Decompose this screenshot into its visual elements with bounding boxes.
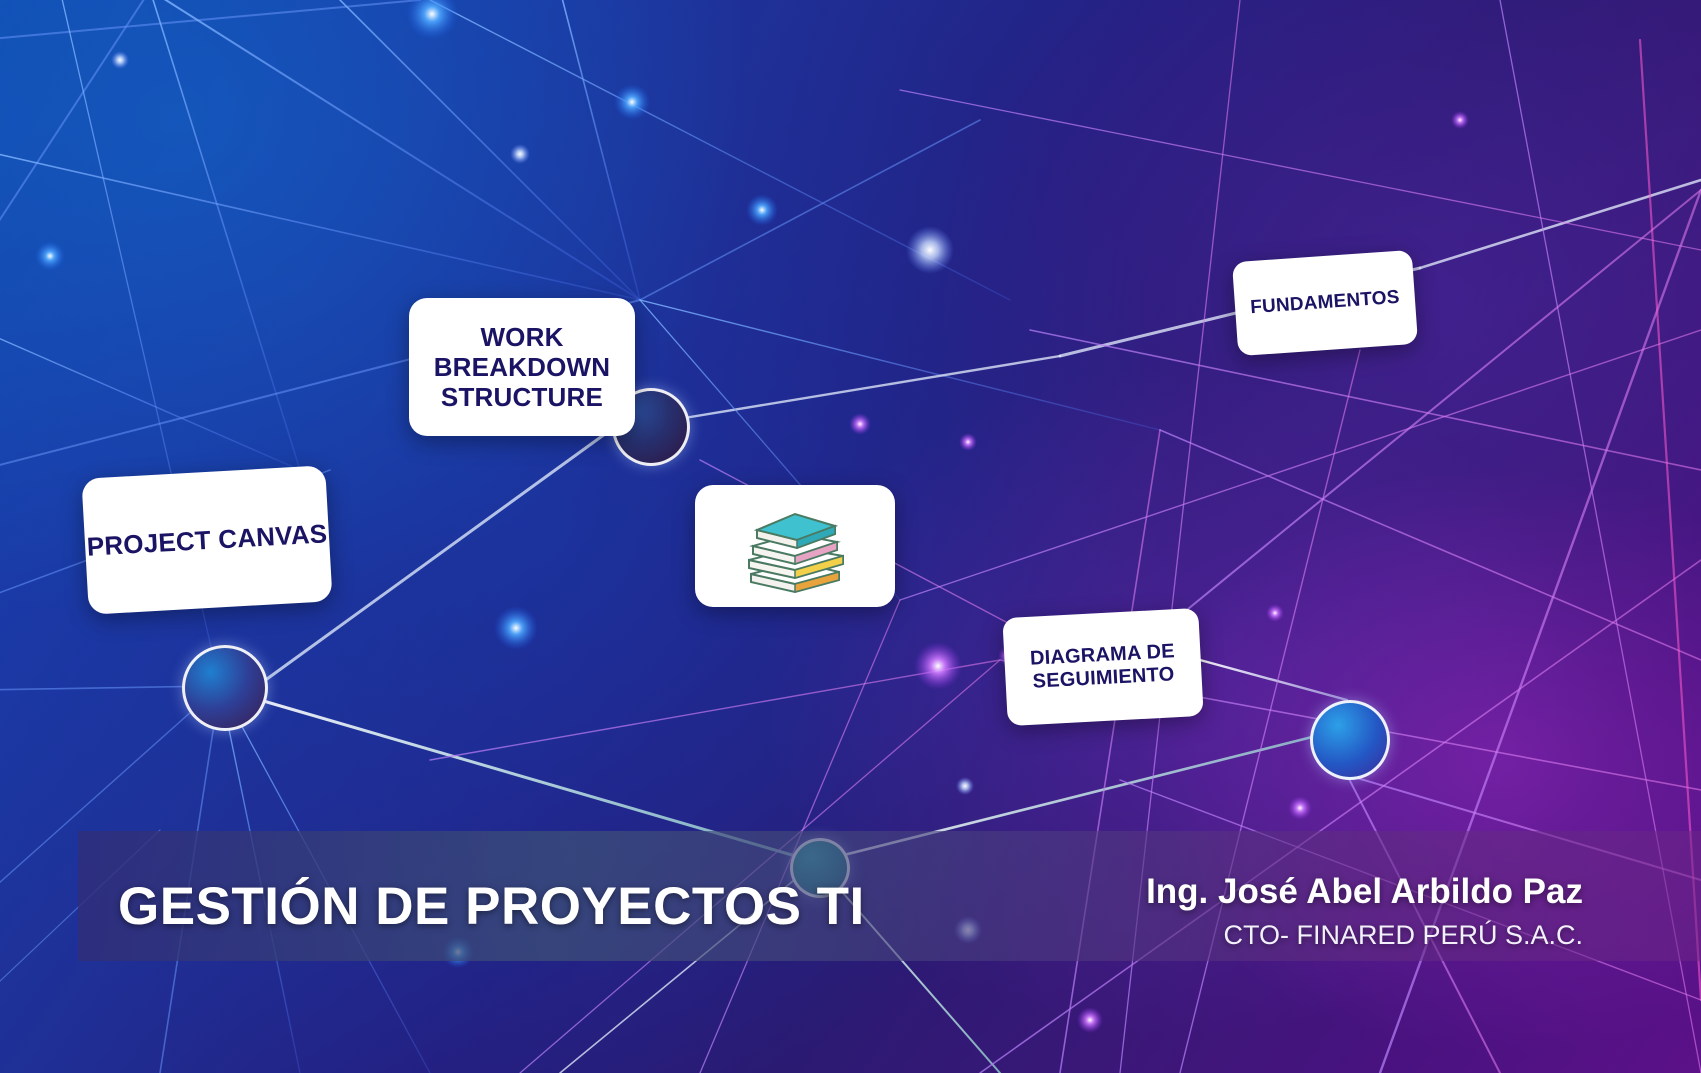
card-diagrama-de-seguimiento[interactable]: DIAGRAMA DE SEGUIMIENTO	[1002, 608, 1203, 726]
slide-title: GESTIÓN DE PROYECTOS TI	[118, 876, 865, 937]
card-work-breakdown-structure[interactable]: WORK BREAKDOWN STRUCTURE	[409, 298, 635, 436]
card-project-canvas[interactable]: PROJECT CANVAS	[81, 465, 332, 614]
network-node-canvas[interactable]	[182, 645, 268, 731]
presentation-slide: WORK BREAKDOWN STRUCTURE PROJECT CANVAS …	[0, 0, 1701, 1073]
card-books[interactable]	[695, 485, 895, 607]
card-label: WORK BREAKDOWN STRUCTURE	[409, 322, 635, 412]
card-label: FUNDAMENTOS	[1250, 287, 1401, 319]
author-name: Ing. José Abel Arbildo Paz	[1146, 872, 1583, 912]
author-role: CTO- FINARED PERÚ S.A.C.	[1223, 920, 1583, 951]
network-node-diagrama[interactable]	[1310, 700, 1390, 780]
card-fundamentos[interactable]: FUNDAMENTOS	[1232, 250, 1418, 356]
card-label: DIAGRAMA DE SEGUIMIENTO	[1004, 639, 1202, 696]
card-label: PROJECT CANVAS	[86, 518, 328, 562]
books-stack-icon	[735, 496, 855, 596]
